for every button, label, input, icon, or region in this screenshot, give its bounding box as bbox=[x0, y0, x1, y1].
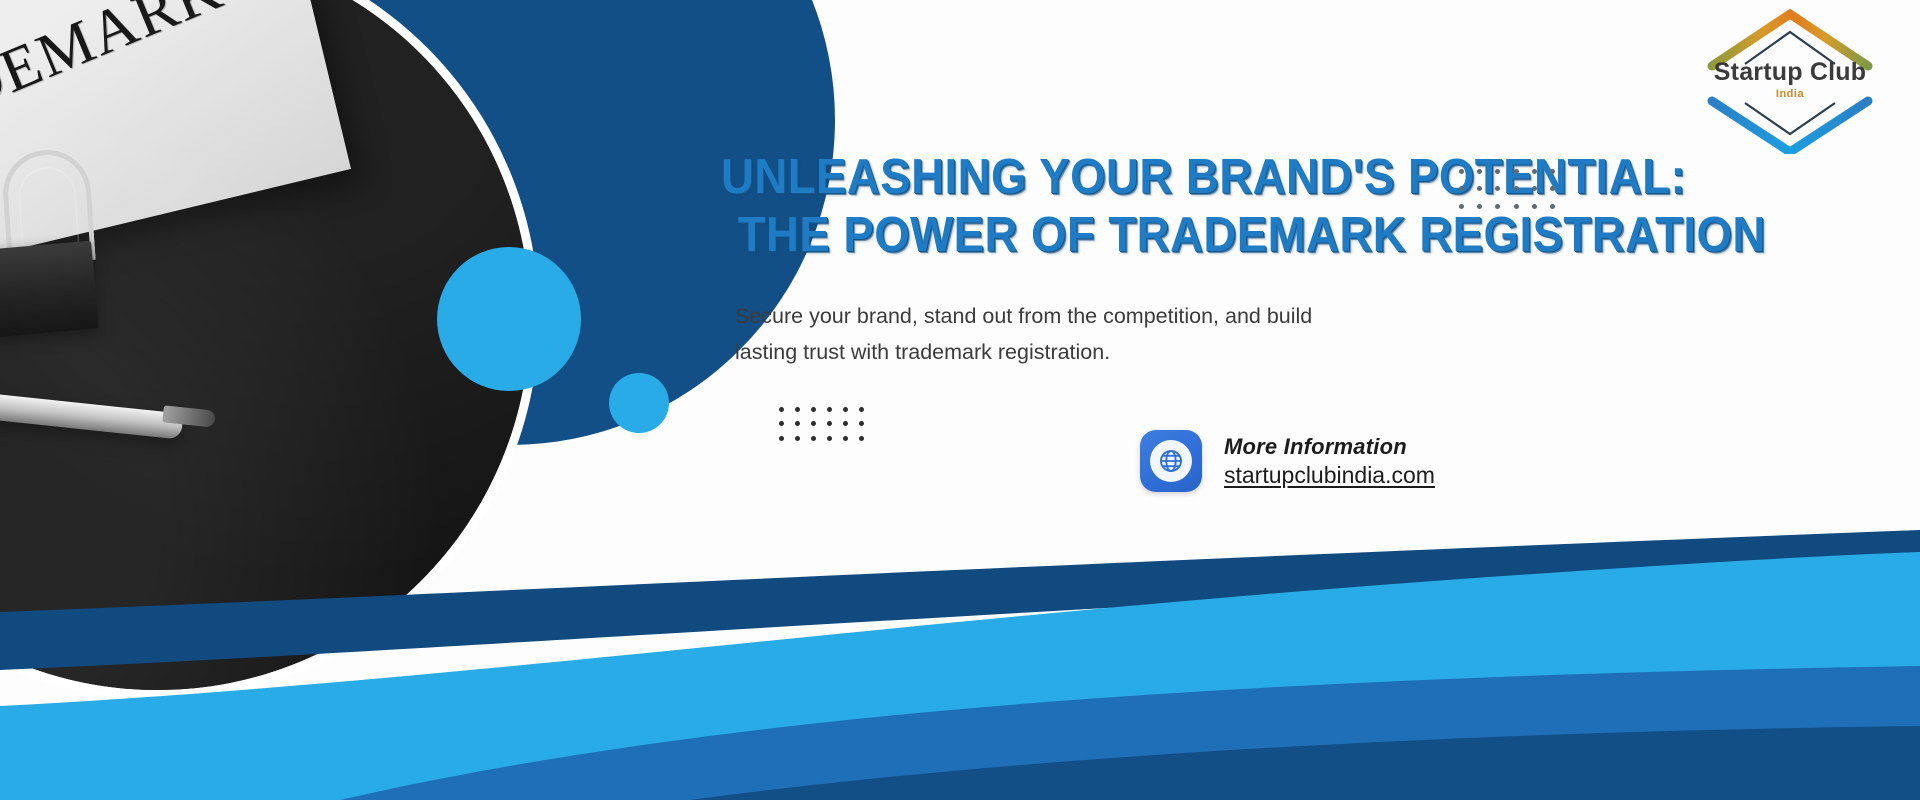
dot-grid-center bbox=[773, 402, 869, 446]
grid-dot bbox=[1532, 169, 1537, 174]
grid-dot bbox=[843, 436, 848, 441]
decorative-waves bbox=[0, 470, 1920, 800]
grid-dot bbox=[779, 407, 784, 412]
grid-dot bbox=[1477, 169, 1482, 174]
contact-label: More Information bbox=[1224, 434, 1435, 460]
grid-dot bbox=[795, 421, 800, 426]
grid-dot bbox=[1550, 186, 1555, 191]
grid-dot bbox=[1514, 169, 1519, 174]
grid-dot bbox=[779, 436, 784, 441]
grid-dot bbox=[827, 407, 832, 412]
decorative-circle-small bbox=[609, 373, 669, 433]
grid-dot bbox=[859, 436, 864, 441]
grid-dot bbox=[1550, 169, 1555, 174]
logo[interactable]: Startup Club India bbox=[1690, 6, 1890, 154]
grid-dot bbox=[859, 407, 864, 412]
grid-dot bbox=[1459, 204, 1464, 209]
decorative-circle-large bbox=[437, 247, 581, 391]
grid-dot bbox=[811, 421, 816, 426]
logo-name: Startup Club bbox=[1690, 58, 1890, 87]
grid-dot bbox=[843, 407, 848, 412]
grid-dot bbox=[795, 436, 800, 441]
grid-dot bbox=[843, 421, 848, 426]
grid-dot bbox=[1514, 186, 1519, 191]
promotional-banner: TRADEMARK bbox=[0, 0, 1920, 800]
grid-dot bbox=[1532, 204, 1537, 209]
grid-dot bbox=[1495, 186, 1500, 191]
logo-region: India bbox=[1690, 88, 1890, 100]
binder-clip-body-icon bbox=[0, 241, 99, 338]
page-title: UNLEASHING YOUR BRAND'S POTENTIAL: THE P… bbox=[721, 148, 1501, 264]
grid-dot bbox=[1459, 169, 1464, 174]
grid-dot bbox=[811, 407, 816, 412]
subtitle-line-2: lasting trust with trademark registratio… bbox=[735, 334, 1475, 370]
grid-dot bbox=[1459, 186, 1464, 191]
grid-dot bbox=[1495, 169, 1500, 174]
pen-icon bbox=[0, 380, 183, 439]
headline-line-1: UNLEASHING YOUR BRAND'S POTENTIAL: bbox=[721, 148, 1446, 206]
grid-dot bbox=[795, 407, 800, 412]
headline-line-2: THE POWER OF TRADEMARK REGISTRATION bbox=[721, 206, 1446, 264]
grid-dot bbox=[779, 421, 784, 426]
grid-dot bbox=[1477, 204, 1482, 209]
grid-dot bbox=[1495, 204, 1500, 209]
dot-grid-right bbox=[1452, 163, 1562, 215]
grid-dot bbox=[1532, 186, 1537, 191]
grid-dot bbox=[1550, 204, 1555, 209]
grid-dot bbox=[1514, 204, 1519, 209]
grid-dot bbox=[1477, 186, 1482, 191]
grid-dot bbox=[859, 421, 864, 426]
subtitle-line-1: Secure your brand, stand out from the co… bbox=[735, 298, 1475, 334]
trademark-card-label: TRADEMARK bbox=[0, 0, 233, 176]
grid-dot bbox=[827, 421, 832, 426]
subtitle: Secure your brand, stand out from the co… bbox=[735, 298, 1475, 370]
grid-dot bbox=[811, 436, 816, 441]
grid-dot bbox=[827, 436, 832, 441]
